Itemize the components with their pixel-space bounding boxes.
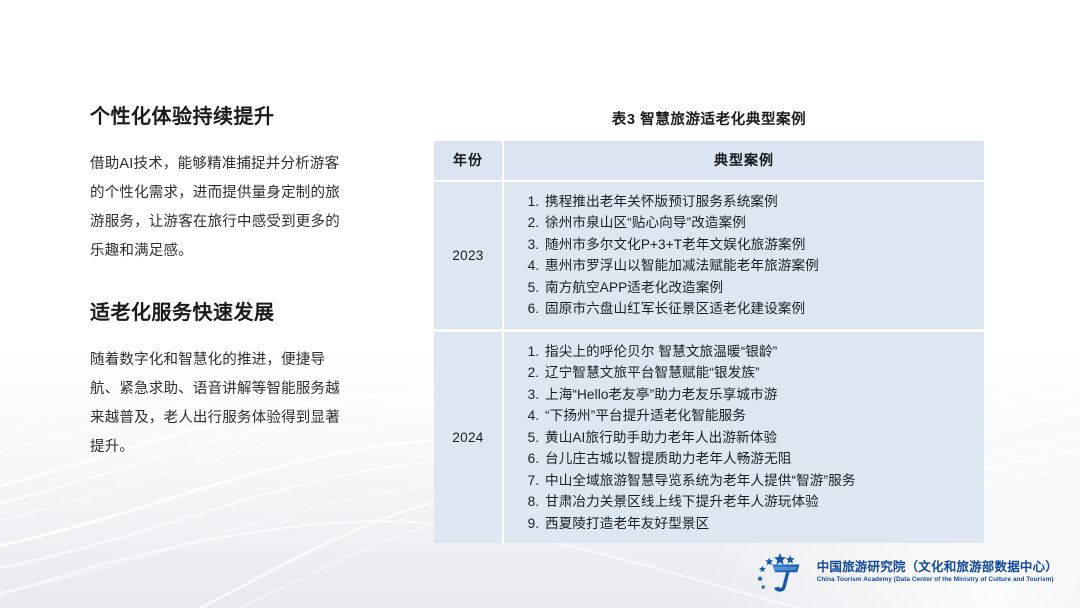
china-tourism-academy-logo-icon — [756, 552, 808, 592]
cell-year: 2024 — [434, 332, 504, 543]
logo-title-cn: 中国旅游研究院（文化和旅游部数据中心） — [817, 560, 1058, 574]
section-heading-aging-friendly: 适老化服务快速发展 — [90, 300, 352, 326]
logo-title-en: China Tourism Academy (Data Center of th… — [817, 576, 1058, 583]
logo-text-block: 中国旅游研究院（文化和旅游部数据中心） China Tourism Academ… — [817, 560, 1058, 583]
table-header-row: 年份 典型案例 — [434, 141, 984, 182]
case-list-item: 指尖上的呼伦贝尔 智慧文旅温暖“银龄” — [543, 341, 974, 362]
section-aging-friendly: 适老化服务快速发展 随着数字化和智慧化的推进，便捷导航、紧急求助、语音讲解等智能… — [90, 300, 352, 462]
case-list-item: 甘肃冶力关景区线上线下提升老年人游玩体验 — [543, 491, 974, 512]
table-header: 年份 典型案例 — [434, 141, 984, 182]
table-body: 2023携程推出老年关怀版预订服务系统案例徐州市泉山区“贴心向导”改造案例随州市… — [434, 182, 984, 543]
cell-year: 2023 — [434, 182, 504, 332]
case-list-item: 中山全域旅游智慧导览系统为老年人提供“智游”服务 — [543, 470, 974, 491]
table-caption: 表3 智慧旅游适老化典型案例 — [434, 108, 984, 129]
left-text-column: 个性化体验持续提升 借助AI技术，能够精准捕捉并分析游客的个性化需求，进而提供量… — [90, 104, 352, 462]
case-list-item: 徐州市泉山区“贴心向导”改造案例 — [543, 212, 974, 233]
table-row: 2024指尖上的呼伦贝尔 智慧文旅温暖“银龄”辽宁智慧文旅平台智慧赋能“银发族”… — [434, 332, 984, 543]
cell-cases: 携程推出老年关怀版预订服务系统案例徐州市泉山区“贴心向导”改造案例随州市多尔文化… — [504, 182, 984, 332]
section-body-personalization: 借助AI技术，能够精准捕捉并分析游客的个性化需求，进而提供量身定制的旅游服务，让… — [90, 150, 352, 266]
footer-logo: 中国旅游研究院（文化和旅游部数据中心） China Tourism Academ… — [756, 552, 1058, 592]
case-list-item: 惠州市罗浮山以智能加减法赋能老年旅游案例 — [543, 255, 974, 276]
case-list-item: 南方航空APP适老化改造案例 — [543, 277, 974, 298]
section-personalization: 个性化体验持续提升 借助AI技术，能够精准捕捉并分析游客的个性化需求，进而提供量… — [90, 104, 352, 266]
section-body-aging-friendly: 随着数字化和智慧化的推进，便捷导航、紧急求助、语音讲解等智能服务越来越普及，老人… — [90, 346, 352, 462]
typical-cases-table: 年份 典型案例 2023携程推出老年关怀版预订服务系统案例徐州市泉山区“贴心向导… — [434, 141, 984, 543]
cell-cases: 指尖上的呼伦贝尔 智慧文旅温暖“银龄”辽宁智慧文旅平台智慧赋能“银发族”上海“H… — [504, 332, 984, 543]
case-list-item: 台儿庄古城以智提质助力老年人畅游无阻 — [543, 448, 974, 469]
case-list-item: “下扬州”平台提升适老化智能服务 — [543, 405, 974, 426]
case-list-item: 辽宁智慧文旅平台智慧赋能“银发族” — [543, 362, 974, 383]
case-list: 指尖上的呼伦贝尔 智慧文旅温暖“银龄”辽宁智慧文旅平台智慧赋能“银发族”上海“H… — [522, 341, 974, 534]
case-list-item: 携程推出老年关怀版预订服务系统案例 — [543, 191, 974, 212]
slide-canvas: 个性化体验持续提升 借助AI技术，能够精准捕捉并分析游客的个性化需求，进而提供量… — [0, 0, 1080, 608]
table-region: 表3 智慧旅游适老化典型案例 年份 典型案例 2023携程推出老年关怀版预订服务… — [434, 108, 984, 543]
case-list: 携程推出老年关怀版预订服务系统案例徐州市泉山区“贴心向导”改造案例随州市多尔文化… — [522, 191, 974, 320]
case-list-item: 固原市六盘山红军长征景区适老化建设案例 — [543, 298, 974, 319]
case-list-item: 西夏陵打造老年友好型景区 — [543, 513, 974, 534]
case-list-item: 黄山AI旅行助手助力老年人出游新体验 — [543, 427, 974, 448]
table-row: 2023携程推出老年关怀版预订服务系统案例徐州市泉山区“贴心向导”改造案例随州市… — [434, 182, 984, 332]
case-list-item: 随州市多尔文化P+3+T老年文娱化旅游案例 — [543, 234, 974, 255]
column-header-cases: 典型案例 — [504, 141, 984, 182]
section-heading-personalization: 个性化体验持续提升 — [90, 104, 352, 130]
case-list-item: 上海“Hello老友亭”助力老友乐享城市游 — [543, 384, 974, 405]
column-header-year: 年份 — [434, 141, 504, 182]
